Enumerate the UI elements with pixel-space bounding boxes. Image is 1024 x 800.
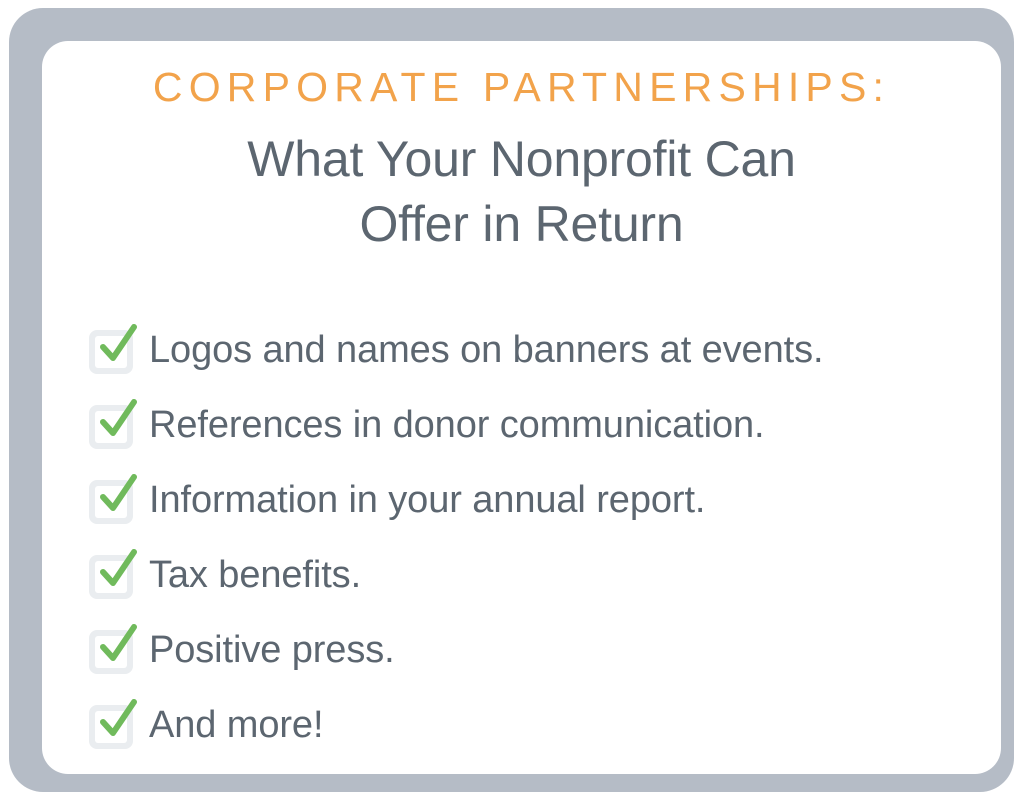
list-item-label: Tax benefits. [149, 555, 361, 597]
check-mark-icon [93, 472, 141, 520]
check-mark-icon [93, 397, 141, 445]
list-item-label: Positive press. [149, 630, 395, 672]
checkbox-checked-icon [89, 702, 136, 749]
checkbox-checked-icon [89, 627, 136, 674]
list-item: References in donor communication. [89, 388, 969, 463]
check-mark-icon [93, 622, 141, 670]
page-title-line-1: What Your Nonprofit Can [42, 127, 1001, 192]
list-item-label: References in donor communication. [149, 405, 764, 447]
list-item: And more! [89, 688, 969, 763]
infographic-canvas: CORPORATE PARTNERSHIPS: What Your Nonpro… [0, 0, 1024, 800]
check-mark-icon [93, 697, 141, 745]
list-item-label: Logos and names on banners at events. [149, 330, 823, 372]
page-title-eyebrow: CORPORATE PARTNERSHIPS: [42, 41, 1001, 111]
check-mark-icon [93, 547, 141, 595]
outer-gray-panel: CORPORATE PARTNERSHIPS: What Your Nonpro… [9, 8, 1014, 792]
benefits-checklist: Logos and names on banners at events. Re… [89, 313, 969, 763]
list-item-label: And more! [149, 705, 323, 747]
heading-block: CORPORATE PARTNERSHIPS: What Your Nonpro… [42, 41, 1001, 257]
check-mark-icon [93, 322, 141, 370]
checkbox-checked-icon [89, 552, 136, 599]
page-title: What Your Nonprofit Can Offer in Return [42, 111, 1001, 257]
page-title-line-2: Offer in Return [42, 192, 1001, 257]
list-item: Positive press. [89, 613, 969, 688]
checkbox-checked-icon [89, 327, 136, 374]
list-item-label: Information in your annual report. [149, 480, 705, 522]
list-item: Information in your annual report. [89, 463, 969, 538]
list-item: Logos and names on banners at events. [89, 313, 969, 388]
list-item: Tax benefits. [89, 538, 969, 613]
checkbox-checked-icon [89, 477, 136, 524]
content-card: CORPORATE PARTNERSHIPS: What Your Nonpro… [42, 41, 1001, 774]
checkbox-checked-icon [89, 402, 136, 449]
